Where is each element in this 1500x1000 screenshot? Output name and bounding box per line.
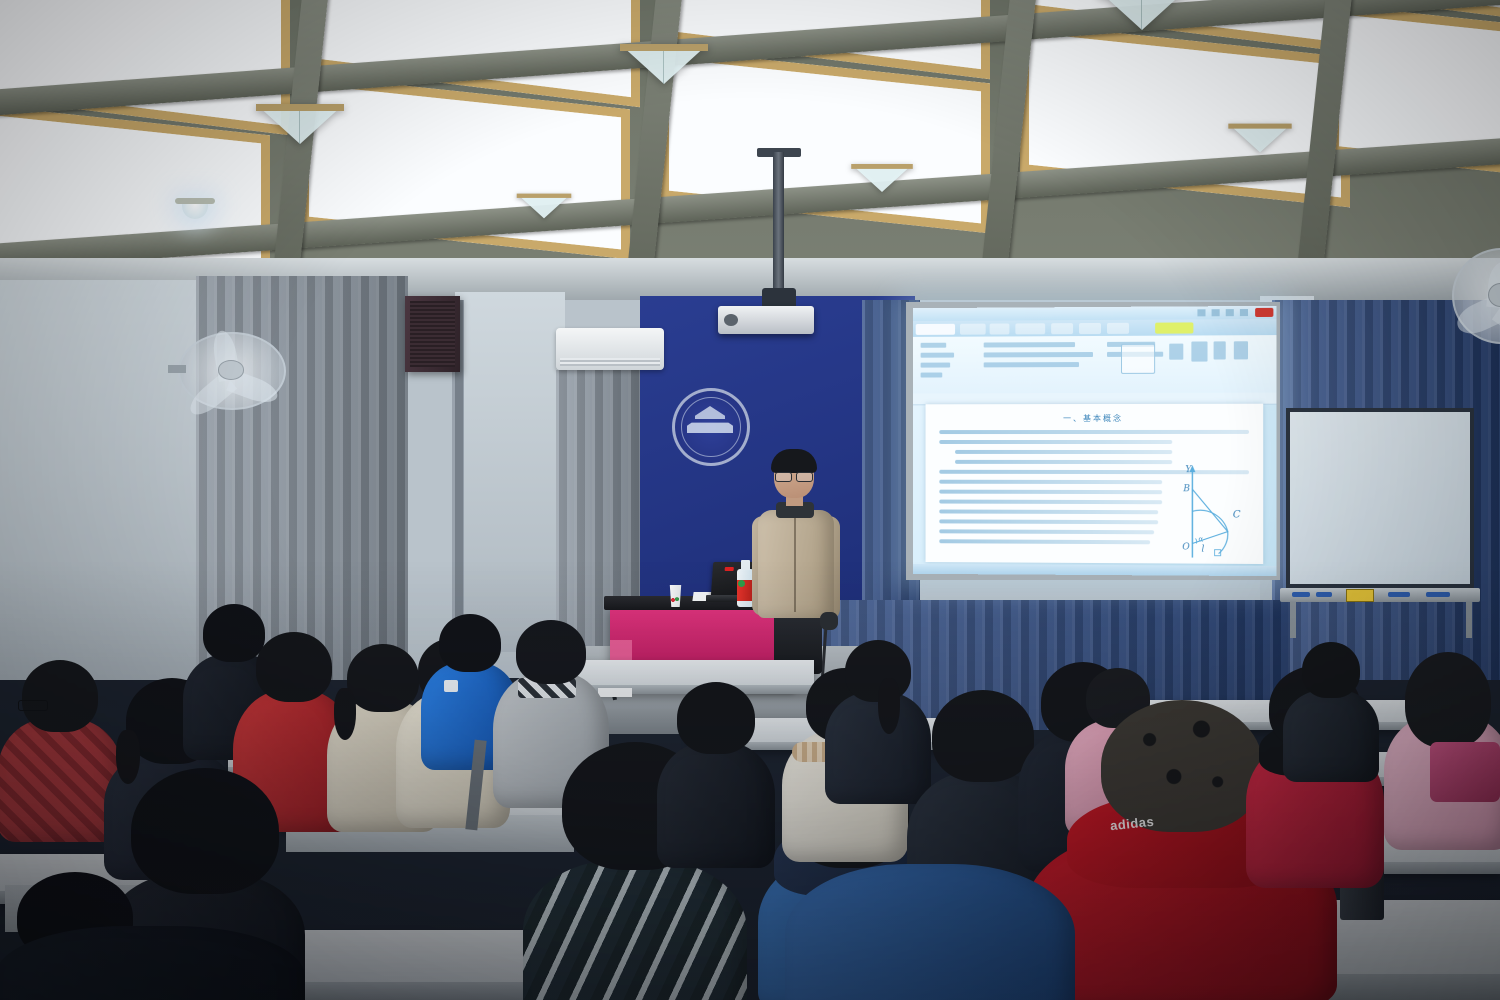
whiteboard[interactable] bbox=[1286, 408, 1474, 588]
coffered-ceiling bbox=[0, 0, 1500, 300]
ceiling-projector[interactable] bbox=[718, 306, 814, 334]
glasses-icon bbox=[775, 472, 813, 480]
projected-desktop: 一、基本概念 Y B C O bbox=[913, 306, 1277, 576]
blue-marker-icon[interactable] bbox=[1388, 592, 1410, 597]
document-text-line bbox=[939, 500, 1162, 505]
blue-marker-icon[interactable] bbox=[1292, 592, 1310, 597]
point-label-b: B bbox=[1182, 484, 1190, 494]
laptop-logo-icon bbox=[725, 567, 734, 571]
student-dark-front-left bbox=[0, 916, 300, 1000]
lecturer-hand bbox=[820, 612, 838, 630]
document-text-line bbox=[939, 529, 1154, 534]
projection-screen: 一、基本概念 Y B C O bbox=[906, 302, 1280, 580]
document-text-line bbox=[939, 539, 1150, 544]
university-emblem bbox=[672, 388, 750, 466]
student-red-plaid bbox=[0, 660, 120, 840]
lecturer-jacket-zip bbox=[794, 512, 796, 612]
wall-air-conditioner bbox=[556, 328, 664, 370]
pendant-light bbox=[517, 194, 572, 219]
cup-floral-pattern bbox=[670, 596, 680, 604]
segment-label: l bbox=[1201, 545, 1204, 555]
document-text-line bbox=[939, 430, 1249, 434]
projector-pole bbox=[773, 152, 784, 292]
tab-mailings[interactable] bbox=[1079, 323, 1101, 334]
blue-marker-icon[interactable] bbox=[1426, 592, 1450, 597]
pink-backpack[interactable] bbox=[1430, 742, 1500, 802]
blue-marker-icon[interactable] bbox=[1316, 592, 1332, 597]
student-back-right bbox=[1286, 642, 1376, 762]
tab-home[interactable] bbox=[960, 324, 986, 335]
whiteboard-leg bbox=[1466, 602, 1472, 638]
ribbon-toolbar bbox=[913, 335, 1277, 394]
app-status-bar bbox=[913, 564, 1277, 576]
ribbon-tab-strip bbox=[913, 319, 1277, 337]
document-heading: 一、基本概念 bbox=[926, 413, 1264, 424]
tab-insert[interactable] bbox=[990, 323, 1010, 334]
pendant-light bbox=[620, 44, 708, 84]
lecturer bbox=[748, 452, 848, 672]
tab-reference[interactable] bbox=[1051, 323, 1073, 334]
tab-file[interactable] bbox=[916, 324, 955, 335]
classroom-photo: 一、基本概念 Y B C O bbox=[0, 0, 1500, 1000]
student-blue-front bbox=[790, 834, 1070, 1000]
document-text-line bbox=[939, 480, 1162, 484]
yellow-eraser-icon[interactable] bbox=[1346, 589, 1374, 602]
whiteboard-tray bbox=[1280, 588, 1480, 602]
close-icon[interactable] bbox=[1255, 308, 1273, 317]
origin-label: O bbox=[1182, 542, 1190, 552]
pendant-light bbox=[256, 104, 344, 144]
student-dark-mid bbox=[660, 682, 772, 852]
point-label-c: C bbox=[1233, 509, 1241, 520]
lecturer-hair bbox=[771, 449, 817, 473]
wall-fan-left[interactable] bbox=[178, 332, 282, 406]
tab-addin[interactable] bbox=[1155, 322, 1193, 333]
wall-panel-left bbox=[0, 280, 200, 680]
document-page: 一、基本概念 Y B C O bbox=[926, 404, 1264, 564]
wall-panel-mid bbox=[455, 292, 565, 652]
document-text-line bbox=[939, 519, 1158, 524]
vest-logo-icon bbox=[444, 680, 458, 692]
document-text-line bbox=[939, 509, 1158, 514]
glasses-icon bbox=[18, 700, 48, 711]
geometry-diagram: Y B C O l α bbox=[1170, 461, 1259, 562]
lecturer-jacket bbox=[758, 510, 834, 618]
document-text-line bbox=[939, 490, 1162, 495]
tab-layout[interactable] bbox=[1015, 323, 1045, 334]
document-text-line bbox=[955, 450, 1172, 454]
whiteboard-unit bbox=[1280, 408, 1480, 638]
pendant-light bbox=[851, 164, 913, 192]
wall-fan-right[interactable] bbox=[1452, 248, 1500, 340]
tab-review[interactable] bbox=[1107, 323, 1129, 334]
whiteboard-leg bbox=[1290, 602, 1296, 638]
pendant-light bbox=[1228, 124, 1291, 153]
document-text-line bbox=[939, 440, 1172, 444]
pendant-light bbox=[1098, 0, 1186, 30]
window-controls[interactable] bbox=[1197, 309, 1250, 316]
wall-speaker bbox=[405, 296, 460, 372]
document-text-line bbox=[955, 460, 1172, 464]
